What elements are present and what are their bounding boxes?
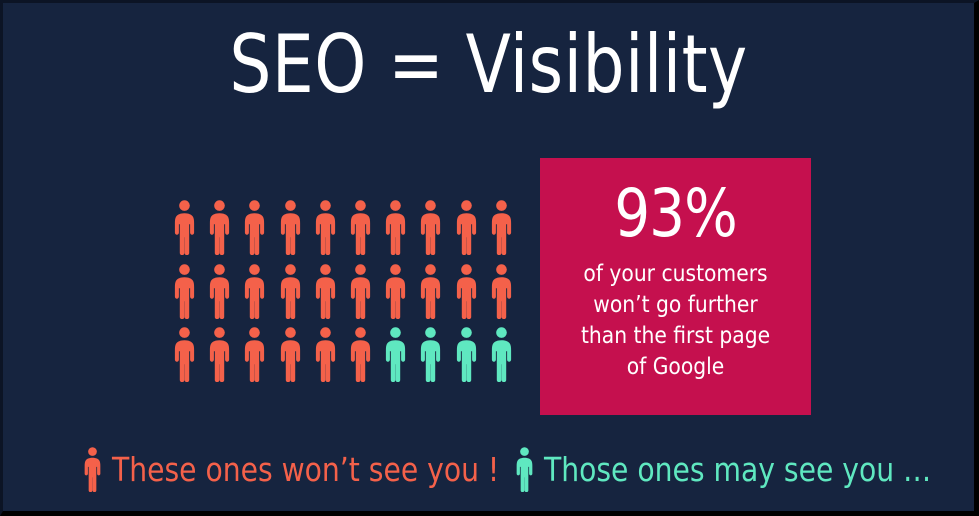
pictogram-person-teal	[384, 327, 419, 391]
person-icon	[279, 327, 302, 382]
pictogram-person-orange	[279, 327, 314, 391]
pictogram-person-orange	[208, 200, 243, 264]
stat-description-line: of Google	[581, 351, 770, 382]
legend-label-orange: These ones won’t see you !	[112, 453, 499, 486]
pictogram-person-orange	[314, 264, 349, 328]
stat-description-line: of your customers	[581, 258, 770, 289]
pictogram-person-orange	[173, 327, 208, 391]
pictogram-person-orange	[314, 200, 349, 264]
pictogram-person-orange	[490, 200, 525, 264]
person-icon	[314, 264, 337, 319]
legend-label-teal: Those ones may see you …	[544, 453, 931, 486]
person-icon	[455, 264, 478, 319]
person-icon	[314, 327, 337, 382]
person-icon	[349, 200, 372, 255]
stat-description-line: won’t go further	[581, 289, 770, 320]
person-icon	[279, 264, 302, 319]
pictogram-person-orange	[173, 200, 208, 264]
pictogram-person-orange	[455, 200, 490, 264]
pictogram-person-orange	[243, 327, 278, 391]
person-icon	[208, 200, 231, 255]
person-icon	[83, 447, 102, 492]
person-icon	[384, 264, 407, 319]
pictogram-person-orange	[349, 264, 384, 328]
pictogram-person-orange	[173, 264, 208, 328]
pictogram-person-teal	[455, 327, 490, 391]
pictogram-person-orange	[419, 200, 454, 264]
pictogram-person-orange	[243, 200, 278, 264]
person-icon	[419, 327, 442, 382]
stat-callout-box: 93% of your customerswon’t go furthertha…	[540, 158, 811, 415]
stat-description-line: than the first page	[581, 320, 770, 351]
person-icon	[515, 447, 534, 492]
pictogram-person-orange	[208, 264, 243, 328]
person-icon	[455, 327, 478, 382]
person-icon	[419, 200, 442, 255]
stat-description: of your customerswon’t go furtherthan th…	[581, 258, 770, 382]
pictogram-person-teal	[490, 327, 525, 391]
person-icon	[490, 264, 513, 319]
person-icon	[490, 327, 513, 382]
pictogram-person-orange	[314, 327, 349, 391]
pictogram-person-orange	[419, 264, 454, 328]
person-icon	[455, 200, 478, 255]
page-title: SEO = Visibility	[42, 25, 935, 105]
pictogram-person-orange	[279, 200, 314, 264]
legend-item-teal: Those ones may see you …	[515, 447, 952, 492]
person-icon	[173, 327, 196, 382]
person-icon	[490, 200, 513, 255]
person-icon	[208, 264, 231, 319]
person-icon	[314, 200, 337, 255]
pictogram-person-orange	[349, 200, 384, 264]
person-icon	[349, 264, 372, 319]
person-icon	[173, 200, 196, 255]
pictogram-person-teal	[419, 327, 454, 391]
pictogram-person-orange	[384, 264, 419, 328]
pictogram-person-orange	[455, 264, 490, 328]
person-icon	[419, 264, 442, 319]
person-icon	[173, 264, 196, 319]
person-icon	[279, 200, 302, 255]
pictogram-person-orange	[208, 327, 243, 391]
pictogram-person-orange	[384, 200, 419, 264]
person-icon	[243, 264, 266, 319]
pictogram-person-orange	[490, 264, 525, 328]
person-icon	[384, 327, 407, 382]
person-icon	[384, 200, 407, 255]
pictogram-person-orange	[279, 264, 314, 328]
person-icon	[243, 327, 266, 382]
pictogram-person-orange	[243, 264, 278, 328]
person-icon	[208, 327, 231, 382]
legend-item-orange: These ones won’t see you !	[83, 447, 520, 492]
person-icon	[243, 200, 266, 255]
infographic-canvas: SEO = Visibility 93% of your customerswo…	[0, 0, 979, 516]
person-icon	[349, 327, 372, 382]
stat-percentage: 93%	[614, 180, 737, 247]
pictogram-grid	[173, 200, 525, 391]
pictogram-person-orange	[349, 327, 384, 391]
